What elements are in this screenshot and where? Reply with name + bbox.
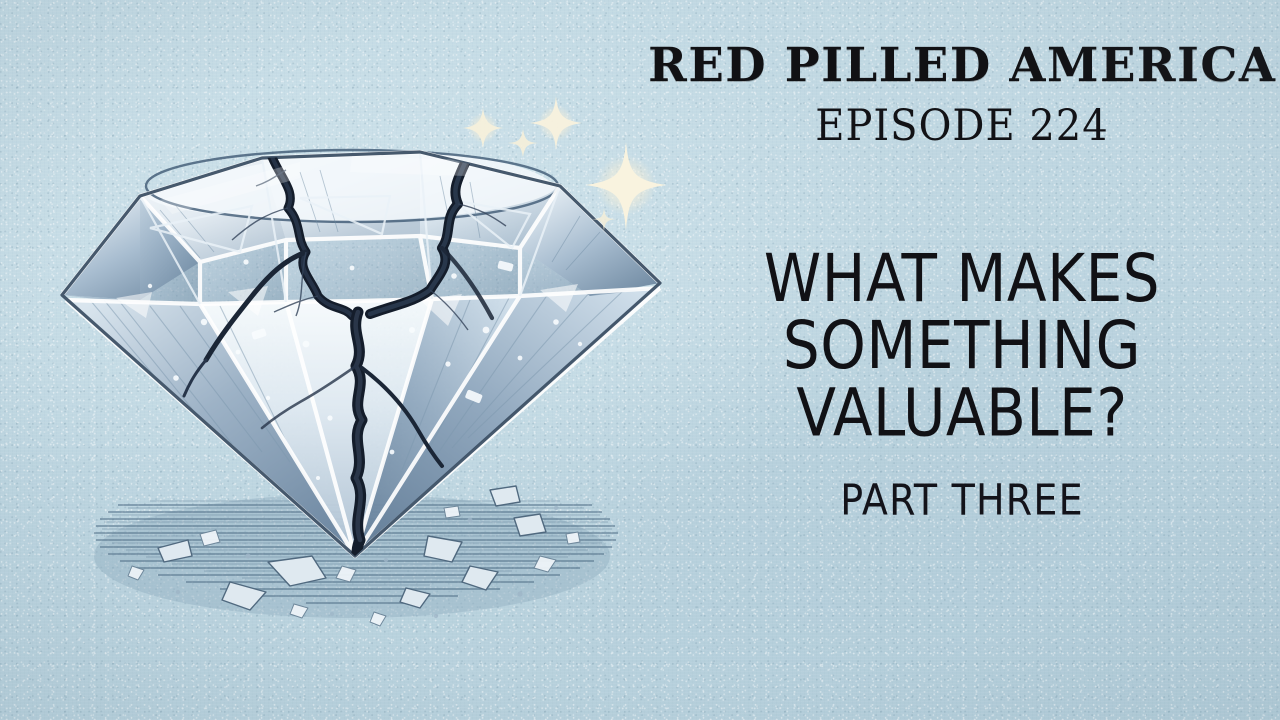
episode-number-label: EPISODE 224 xyxy=(815,101,1108,151)
headline-line-1: WHAT MAKES xyxy=(764,245,1160,312)
sparkle-icon xyxy=(530,96,582,150)
show-title: RED PILLED AMERICA xyxy=(648,42,1276,89)
episode-headline: WHAT MAKES SOMETHING VALUABLE? xyxy=(764,245,1160,447)
cracked-diamond-illustration xyxy=(0,0,700,720)
headline-line-3: VALUABLE? xyxy=(764,380,1160,447)
text-column: RED PILLED AMERICA EPISODE 224 WHAT MAKE… xyxy=(668,0,1256,720)
sparkle-icon xyxy=(508,129,538,157)
podcast-episode-poster: RED PILLED AMERICA EPISODE 224 WHAT MAKE… xyxy=(0,0,1280,720)
part-label: PART THREE xyxy=(840,476,1084,525)
headline-line-2: SOMETHING xyxy=(764,312,1160,379)
sparkle-icon xyxy=(463,108,503,148)
sparkle-icon xyxy=(586,142,666,230)
